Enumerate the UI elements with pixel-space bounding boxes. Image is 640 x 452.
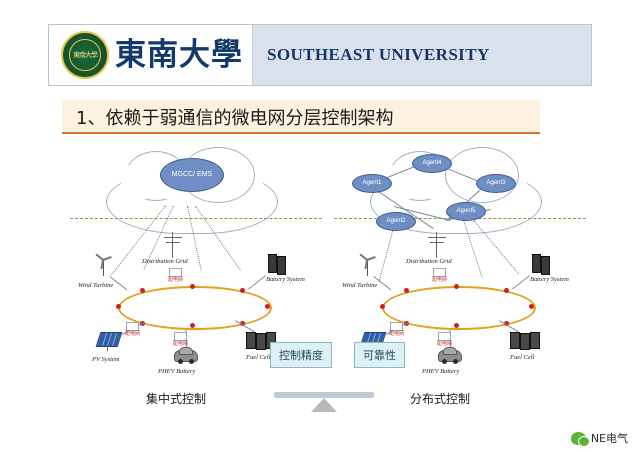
bus-node-r-top	[454, 284, 459, 289]
bus-node-l-bottom	[190, 323, 195, 328]
label-peiwang-left-phev: 配电网	[173, 340, 188, 347]
panel-centralized: MGCC/ EMS Distribution Grid 配电网	[70, 136, 325, 426]
label-fuel-cell-left: Fuel Cell	[246, 354, 270, 361]
wechat-icon	[571, 432, 586, 445]
seal-text: 東南大學	[73, 50, 97, 60]
wechat-account-name: NE电气	[591, 430, 628, 446]
diagram-area: MGCC/ EMS Distribution Grid 配电网	[62, 136, 582, 426]
wind-turbine-icon-right	[358, 254, 378, 278]
header-banner: 東南大學 東南大學 SOUTHEAST UNIVERSITY	[48, 24, 592, 86]
comm-link-r1	[379, 228, 394, 282]
distribution-grid-tower-right	[426, 232, 448, 258]
bus-node-r-tr	[504, 288, 509, 293]
bus-node-l-left	[116, 304, 121, 309]
label-distribution-grid-left: Distribution Grid	[142, 258, 188, 265]
label-peiwang-right-top: 配电网	[432, 276, 447, 283]
bus-node-r-bottom	[454, 323, 459, 328]
label-phev-battery-right: PHEV Battery	[422, 368, 459, 375]
slide-title-bar: 1、依赖于弱通信的微电网分层控制架构	[62, 100, 540, 134]
node-agent2: Agent2	[376, 212, 416, 231]
dashed-divider-left	[70, 218, 322, 219]
label-wind-turbine-left: Wind Turbine	[78, 282, 113, 289]
pv-system-icon-left	[98, 332, 124, 352]
node-agent5: Agent5	[446, 202, 486, 221]
node-mgcc-ems: MGCC/ EMS	[160, 158, 224, 192]
chip-control-accuracy[interactable]: 控制精度	[270, 342, 332, 368]
wechat-badge: NE电气	[571, 430, 628, 446]
label-battery-system-left: Battery System	[266, 276, 305, 283]
label-peiwang-right-pv: 配电网	[389, 330, 404, 337]
node-agent4: Agent4	[412, 154, 452, 173]
bus-node-r-tl	[404, 288, 409, 293]
label-peiwang-left-top: 配电网	[168, 276, 183, 283]
bus-node-l-tr	[240, 288, 245, 293]
distribution-grid-tower-left	[162, 232, 184, 258]
line-battery-bus-right	[512, 275, 530, 289]
bus-node-l-top	[190, 284, 195, 289]
label-pv-system-left: PV System	[92, 356, 120, 363]
footer: NE电气	[0, 424, 640, 452]
bus-node-l-tl	[140, 288, 145, 293]
mode-label-centralized: 集中式控制	[146, 390, 206, 407]
label-wind-turbine-right: Wind Turbine	[342, 282, 377, 289]
slide-title: 1、依赖于弱通信的微电网分层控制架构	[76, 104, 393, 130]
label-distribution-grid-right: Distribution Grid	[406, 258, 452, 265]
bus-node-r-left	[380, 304, 385, 309]
mode-label-distributed: 分布式控制	[410, 390, 470, 407]
label-battery-system-right: Battery System	[530, 276, 569, 283]
wind-turbine-icon-left	[94, 254, 114, 278]
panel-distributed: Agent1 Agent4 Agent3 Agent2 Agent5 Distr…	[334, 136, 589, 426]
line-battery-bus-left	[248, 275, 266, 289]
university-name-cn: 東南大學	[115, 33, 243, 77]
university-seal-icon: 東南大學	[61, 31, 109, 79]
label-peiwang-left-pv: 配电网	[125, 330, 140, 337]
chip-reliability[interactable]: 可靠性	[354, 342, 405, 368]
university-logo-box: 東南大學 東南大學	[49, 25, 253, 85]
label-peiwang-right-phev: 配电网	[437, 340, 452, 347]
bus-node-r-right	[529, 304, 534, 309]
slide-root: 東南大學 東南大學 SOUTHEAST UNIVERSITY 1、依赖于弱通信的…	[0, 0, 640, 452]
university-name-en: SOUTHEAST UNIVERSITY	[267, 45, 490, 65]
bus-node-l-right	[265, 304, 270, 309]
node-agent3: Agent3	[476, 174, 516, 193]
label-fuel-cell-right: Fuel Cell	[510, 354, 534, 361]
node-agent1: Agent1	[352, 174, 392, 193]
label-phev-battery-left: PHEV Battery	[158, 368, 195, 375]
balance-fulcrum	[311, 398, 337, 412]
